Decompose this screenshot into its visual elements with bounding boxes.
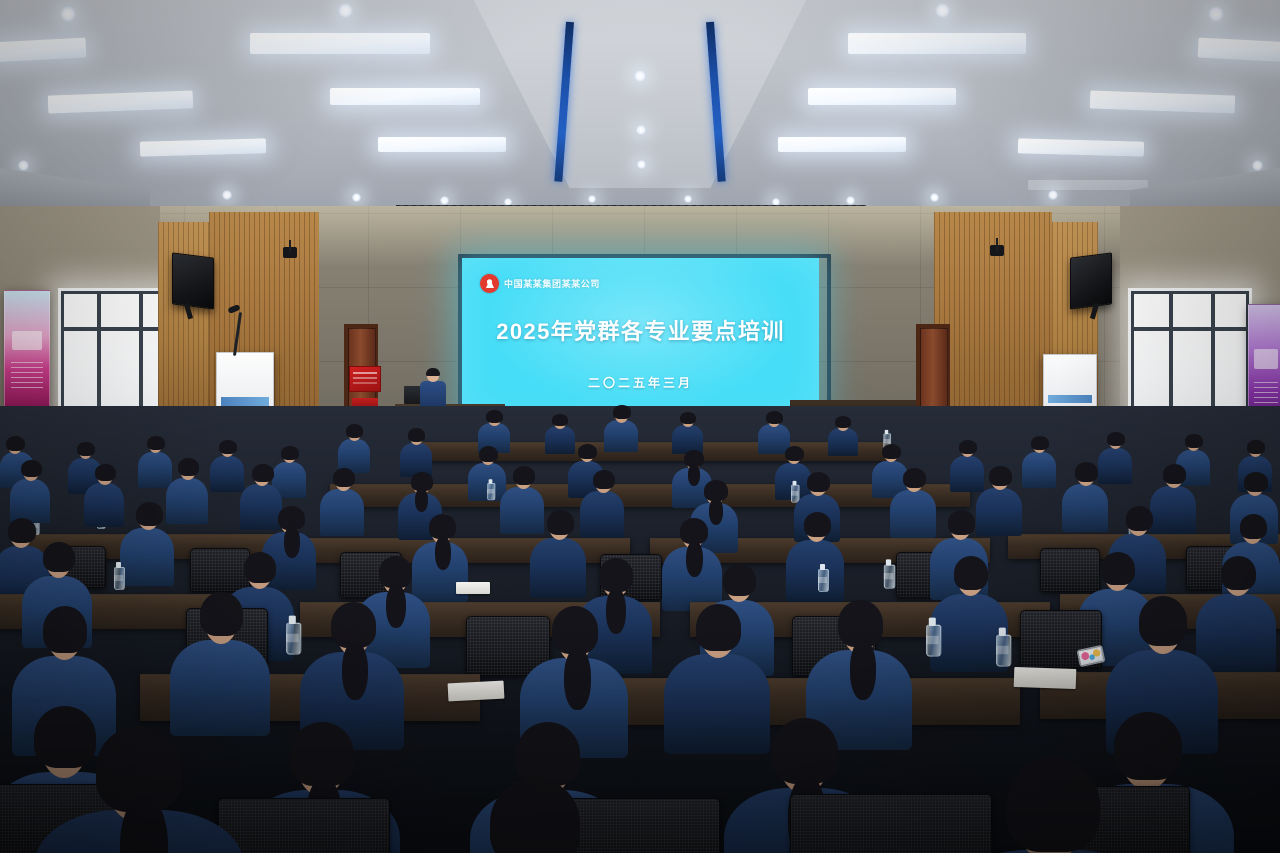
person-body	[604, 420, 638, 452]
poster-graphic	[12, 331, 42, 350]
ceiling-downlight	[60, 6, 76, 22]
ceiling-downlight	[634, 70, 646, 82]
water-bottle	[114, 562, 123, 588]
person-hair	[696, 604, 741, 651]
projection-screen: 中国某某集团某某公司 2025年党群各专业要点培训 二〇二五年三月	[462, 258, 819, 422]
ceiling-downlight	[222, 190, 232, 200]
person-body	[420, 381, 446, 407]
ceiling-led-panel	[140, 138, 266, 156]
ceiling-vent-panel	[1028, 180, 1148, 190]
person-body	[210, 456, 244, 492]
person-hair	[6, 436, 25, 451]
person-hair	[95, 464, 116, 481]
bottle-label	[883, 439, 889, 443]
bottle-cap	[929, 618, 936, 626]
poster-graphic	[1254, 349, 1277, 369]
ceiling-downlight	[338, 3, 353, 18]
ceiling-led-panel	[250, 33, 430, 54]
audience-member	[84, 464, 124, 522]
person-hair	[989, 466, 1012, 486]
person-hair	[807, 472, 830, 492]
person-hair	[552, 414, 568, 426]
technician-person	[420, 370, 446, 406]
person-hair	[43, 542, 75, 572]
person-ponytail	[564, 648, 591, 710]
water-bottle	[818, 564, 827, 590]
window-transom	[1131, 327, 1249, 331]
slide-logo-text: 中国某某集团某某公司	[504, 277, 600, 290]
mount-stem	[289, 240, 291, 253]
water-bottle	[286, 616, 299, 652]
ceiling-downlight	[637, 160, 646, 169]
audience-member	[604, 406, 638, 450]
person-hair	[1185, 434, 1203, 448]
audience-member	[300, 602, 404, 736]
person-hair	[136, 502, 163, 526]
person-ponytail	[342, 642, 368, 700]
person-hair	[680, 412, 696, 424]
person-body	[828, 428, 858, 456]
ceiling-led-panel	[48, 90, 194, 113]
notepad	[456, 582, 490, 594]
ceiling-led-panel	[378, 137, 506, 152]
red-notice-sign	[349, 366, 381, 392]
bottle-cap	[489, 479, 493, 484]
bottle-label	[114, 575, 123, 581]
water-bottle	[884, 559, 893, 586]
person-hair	[426, 368, 440, 376]
person-hair	[43, 606, 87, 653]
person-body	[120, 528, 174, 586]
slide-date: 二〇二五年三月	[462, 374, 819, 391]
ceiling-led-panel	[1090, 90, 1236, 113]
person-hair	[77, 442, 95, 456]
foreground-person	[936, 758, 1166, 853]
ceiling-downlight	[930, 193, 939, 202]
person-hair	[479, 446, 498, 462]
person-hair	[959, 440, 977, 454]
person-hair	[723, 564, 756, 596]
person-hair	[244, 552, 276, 583]
person-body	[10, 479, 50, 523]
ceiling	[0, 0, 1280, 230]
person-hair	[513, 466, 535, 485]
person-hair	[903, 468, 926, 488]
person-hair	[1107, 432, 1125, 446]
person-hair	[599, 558, 633, 592]
foreground-person	[424, 778, 644, 853]
person-hair	[346, 424, 363, 438]
foreground-person	[34, 726, 244, 853]
audience-member	[338, 424, 370, 470]
audience-member	[806, 600, 912, 736]
person-hair	[882, 444, 901, 459]
person-hair	[593, 470, 615, 489]
bottle-cap	[116, 562, 121, 568]
person-body	[1062, 484, 1108, 532]
person-hair	[1126, 506, 1153, 531]
audience-member	[120, 502, 174, 578]
audience-member	[786, 512, 844, 594]
bottle-label	[286, 634, 299, 642]
cabinet-accent-band	[1048, 395, 1092, 403]
person-hair	[200, 592, 243, 636]
mount-stem	[996, 238, 998, 251]
bottle-cap	[999, 628, 1006, 636]
slide-logo: 中国某某集团某某公司	[480, 274, 600, 293]
water-bottle	[926, 618, 939, 654]
audience-member	[478, 410, 510, 450]
person-hair	[552, 606, 598, 654]
person-ponytail	[435, 536, 451, 570]
audience-member	[10, 460, 50, 518]
ceiling-downlight	[935, 3, 950, 18]
person-body	[1022, 452, 1056, 488]
person-hair	[835, 416, 851, 428]
ceiling-downlight	[1208, 6, 1224, 22]
bottle-cap	[289, 616, 296, 624]
person-hair	[1139, 596, 1187, 646]
ceiling-downlight	[684, 195, 692, 203]
person-hair	[613, 405, 631, 419]
water-bottle	[996, 628, 1009, 664]
person-ponytail	[850, 640, 876, 700]
audience-member	[828, 416, 858, 454]
conference-hall-photo: 中国某某集团某某公司 2025年党群各专业要点培训 二〇二五年三月	[0, 0, 1280, 853]
person-hair	[219, 440, 237, 454]
ceiling-downlight	[18, 160, 29, 171]
person-body	[580, 491, 624, 538]
bottle-label	[884, 573, 893, 579]
ceiling-downlight	[1252, 160, 1263, 171]
person-body	[786, 540, 844, 602]
person-ponytail	[415, 488, 428, 512]
person-hair	[178, 458, 199, 476]
wall-speaker-left	[172, 252, 214, 309]
ceiling-downlight	[588, 195, 596, 203]
person-body	[320, 489, 364, 536]
person-hair	[252, 464, 274, 482]
person-hair	[516, 722, 580, 786]
bottle-label	[996, 646, 1009, 654]
person-hair	[954, 556, 988, 590]
audience-area	[0, 406, 1280, 853]
audience-member	[1062, 462, 1108, 526]
person-hair	[490, 778, 580, 853]
bottle-label	[818, 577, 827, 583]
open-notebook	[1014, 667, 1077, 689]
person-hair	[1031, 436, 1049, 450]
person-hair	[1163, 464, 1186, 484]
bottle-cap	[885, 430, 889, 434]
person-hair	[785, 446, 804, 461]
audience-member	[672, 412, 703, 452]
bottle-cap	[886, 559, 891, 565]
wall-speaker-right	[1070, 252, 1112, 309]
company-mountain-logo-icon	[480, 274, 499, 293]
person-hair	[408, 428, 425, 442]
person-hair	[1075, 462, 1098, 482]
person-hair	[948, 510, 975, 535]
audience-member	[1022, 436, 1056, 484]
podium-accent-band	[221, 397, 269, 406]
person-hair	[1244, 472, 1268, 492]
ceiling-downlight	[846, 196, 855, 205]
audience-member	[580, 470, 624, 532]
ceiling-led-panel	[1018, 138, 1144, 156]
audience-member	[400, 428, 432, 474]
poster-text-lines	[11, 362, 43, 393]
ceiling-led-panel	[330, 88, 480, 105]
person-hair	[1006, 758, 1100, 852]
bottle-cap	[820, 564, 825, 570]
person-hair	[333, 468, 355, 487]
person-hair	[547, 510, 574, 535]
audience-member	[210, 440, 244, 488]
person-hair	[1240, 514, 1267, 539]
ceiling-led-panel	[848, 33, 1026, 54]
person-hair	[290, 722, 354, 786]
person-hair	[804, 512, 831, 537]
person-hair	[486, 410, 503, 423]
ceiling-led-panel	[1198, 38, 1280, 63]
bottle-label	[487, 489, 494, 494]
person-hair	[578, 444, 597, 459]
audience-member	[170, 592, 270, 722]
person-body	[84, 483, 124, 527]
person-hair	[772, 718, 838, 784]
ceiling-downlight	[1048, 190, 1058, 200]
ceiling-downlight	[440, 196, 449, 205]
person-hair	[1247, 440, 1265, 454]
bottle-label	[926, 636, 939, 644]
person-hair	[8, 518, 36, 543]
person-hair	[1221, 556, 1256, 590]
ceiling-led-panel	[778, 137, 906, 152]
person-hair	[1101, 552, 1135, 585]
audience-member	[320, 468, 364, 530]
ceiling-led-panel	[808, 88, 956, 105]
person-hair	[766, 411, 783, 424]
ceiling-downlight	[352, 193, 361, 202]
ceiling-downlight	[636, 125, 646, 135]
person-hair	[281, 446, 299, 460]
water-bottle	[487, 479, 494, 499]
person-hair	[21, 460, 42, 477]
person-hair	[147, 436, 165, 450]
ceiling-led-panel	[0, 38, 86, 63]
open-notebook	[448, 681, 505, 702]
slide-title: 2025年党群各专业要点培训	[462, 314, 819, 346]
left-wall-poster	[4, 290, 50, 410]
